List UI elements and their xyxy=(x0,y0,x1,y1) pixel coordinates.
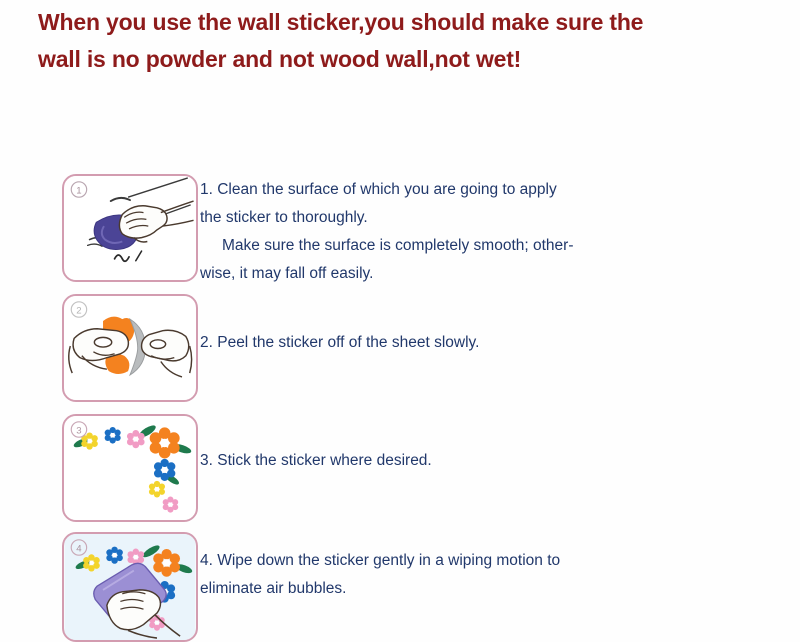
heading-line-2: wall is no powder and not wood wall,not … xyxy=(38,41,758,78)
step-4-line-2: eliminate air bubbles. xyxy=(200,575,760,603)
panel-marker-4: 4 xyxy=(76,543,82,554)
step-text-3: 3. Stick the sticker where desired. xyxy=(200,447,760,475)
step-text-1: 1. Clean the surface of which you are go… xyxy=(200,176,760,288)
step-1-line-1: 1. Clean the surface of which you are go… xyxy=(200,176,760,204)
illustration-panel-3: 3 xyxy=(62,414,198,522)
illustration-panel-4: 4 xyxy=(62,532,198,642)
step-1-line-3: Make sure the surface is completely smoo… xyxy=(200,232,760,260)
panel-marker-2: 2 xyxy=(76,305,81,316)
illustration-panel-1: 1 xyxy=(62,174,198,282)
step-2-line-1: 2. Peel the sticker off of the sheet slo… xyxy=(200,329,760,357)
page-heading: When you use the wall sticker,you should… xyxy=(38,4,758,78)
step-4-line-1: 4. Wipe down the sticker gently in a wip… xyxy=(200,547,760,575)
heading-line-1: When you use the wall sticker,you should… xyxy=(38,4,758,41)
panel-marker-1: 1 xyxy=(76,185,81,196)
step-1-line-4: wise, it may fall off easily. xyxy=(200,260,760,288)
panel-marker-3: 3 xyxy=(76,425,81,436)
illustration-panel-2: 2 xyxy=(62,294,198,402)
step-text-4: 4. Wipe down the sticker gently in a wip… xyxy=(200,547,760,603)
step-1-line-2: the sticker to thoroughly. xyxy=(200,204,760,232)
step-3-line-1: 3. Stick the sticker where desired. xyxy=(200,447,760,475)
step-text-2: 2. Peel the sticker off of the sheet slo… xyxy=(200,329,760,357)
